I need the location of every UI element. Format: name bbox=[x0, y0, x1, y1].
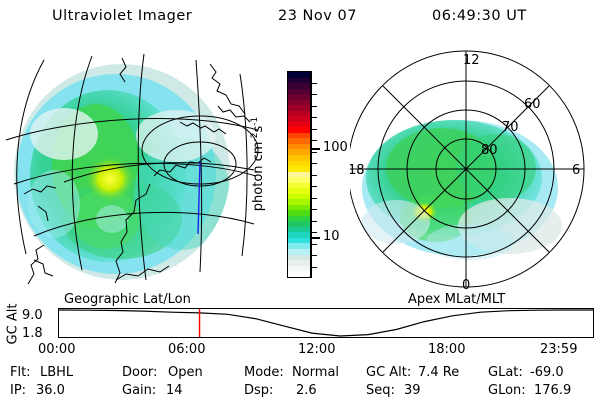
gc-altitude-timeline[interactable] bbox=[58, 308, 594, 338]
colorbar-minor-tick-4 bbox=[311, 117, 317, 118]
status-glon-label: GLon: bbox=[488, 383, 526, 398]
timeline-tick-2359: 23:59 bbox=[540, 342, 577, 357]
colorbar-unit-label: photon cm-2s-1 bbox=[250, 117, 266, 211]
status-seq-value: 39 bbox=[404, 383, 421, 398]
apex-mlat-mlt-plot[interactable]: 12 18 6 0 60 70 80 bbox=[350, 46, 598, 296]
status-gcalt-value: 7.4 Re bbox=[418, 365, 459, 380]
mlt-label-12: 12 bbox=[463, 53, 480, 68]
colorbar-minor-tick-7 bbox=[311, 152, 317, 153]
colorbar-minor-tick-17 bbox=[311, 267, 317, 268]
timeline-tick-1800: 18:00 bbox=[428, 342, 465, 357]
colorbar: photon cm-2s-1 100 10 bbox=[264, 60, 356, 290]
status-flt-value: LBHL bbox=[40, 365, 73, 380]
mlt-label-6: 6 bbox=[572, 163, 580, 178]
timeline-tick-1200: 12:00 bbox=[298, 342, 335, 357]
timeline-ymax-label: 9.0 bbox=[22, 308, 43, 323]
colorbar-tick-100 bbox=[311, 148, 320, 150]
status-dsp-value: 2.6 bbox=[296, 383, 317, 398]
status-mode-label: Mode: bbox=[244, 365, 284, 380]
status-mode-value: Normal bbox=[292, 365, 339, 380]
observation-date: 23 Nov 07 bbox=[278, 8, 357, 24]
status-seq-label: Seq: bbox=[366, 383, 395, 398]
colorbar-minor-tick-11 bbox=[311, 198, 317, 199]
colorbar-band-36 bbox=[288, 271, 310, 277]
geographic-plot-caption: Geographic Lat/Lon bbox=[64, 292, 191, 307]
colorbar-minor-tick-12 bbox=[311, 209, 317, 210]
page-title: Ultraviolet Imager bbox=[52, 8, 192, 24]
mlt-label-0: 0 bbox=[462, 278, 470, 293]
timeline-plot-area bbox=[59, 309, 593, 337]
status-gain-value: 14 bbox=[166, 383, 183, 398]
status-door-label: Door: bbox=[122, 365, 157, 380]
status-door-value: Open bbox=[168, 365, 203, 380]
status-flt-label: Flt: bbox=[10, 365, 31, 380]
timeline-tick-0600: 06:00 bbox=[168, 342, 205, 357]
colorbar-minor-tick-5 bbox=[311, 129, 317, 130]
status-dsp-label: Dsp: bbox=[244, 383, 273, 398]
timeline-ymin-label: 1.8 bbox=[22, 326, 43, 341]
colorbar-minor-tick-1 bbox=[311, 83, 317, 84]
mlat-label-70: 70 bbox=[502, 120, 519, 135]
apex-plot-caption: Apex MLat/MLT bbox=[408, 292, 505, 307]
timeline-y-axis-label: GC Alt bbox=[4, 306, 22, 342]
colorbar-label-10: 10 bbox=[323, 230, 340, 243]
header-bar: Ultraviolet Imager 23 Nov 07 06:49:30 UT bbox=[0, 8, 600, 30]
timeline-tick-0000: 00:00 bbox=[38, 342, 75, 357]
status-glon-value: 176.9 bbox=[534, 383, 571, 398]
colorbar-minor-tick-13 bbox=[311, 221, 317, 222]
colorbar-label-100: 100 bbox=[323, 141, 348, 154]
colorbar-minor-tick-2 bbox=[311, 94, 317, 95]
observation-time: 06:49:30 UT bbox=[432, 8, 527, 24]
colorbar-minor-tick-6 bbox=[311, 140, 317, 141]
mlat-label-60: 60 bbox=[524, 97, 541, 112]
status-ip-value: 36.0 bbox=[36, 383, 65, 398]
colorbar-tick-10 bbox=[311, 237, 320, 239]
status-ip-label: IP: bbox=[10, 383, 26, 398]
colorbar-minor-tick-16 bbox=[311, 255, 317, 256]
mlt-label-18: 18 bbox=[350, 163, 365, 178]
colorbar-gradient bbox=[287, 71, 311, 278]
colorbar-minor-tick-14 bbox=[311, 232, 317, 233]
mlat-label-80: 80 bbox=[481, 143, 498, 158]
status-gcalt-label: GC Alt: bbox=[366, 365, 411, 380]
gc-altitude-curve bbox=[59, 310, 593, 336]
status-glat-value: -69.0 bbox=[530, 365, 564, 380]
colorbar-minor-tick-15 bbox=[311, 244, 317, 245]
status-gain-label: Gain: bbox=[122, 383, 156, 398]
geographic-projection-plot[interactable] bbox=[4, 44, 260, 296]
colorbar-minor-tick-9 bbox=[311, 175, 317, 176]
colorbar-minor-tick-3 bbox=[311, 106, 317, 107]
colorbar-minor-tick-8 bbox=[311, 163, 317, 164]
status-glat-label: GLat: bbox=[488, 365, 523, 380]
colorbar-minor-tick-10 bbox=[311, 186, 317, 187]
apex-aurora-image bbox=[362, 120, 562, 260]
